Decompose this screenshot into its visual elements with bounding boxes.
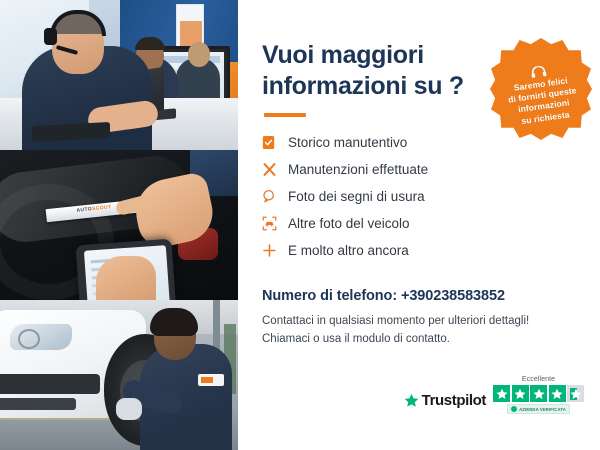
title-divider bbox=[264, 113, 306, 117]
verified-business-badge: AZIENDA VERIFICATA bbox=[507, 404, 570, 414]
clipboard-check-icon bbox=[262, 135, 288, 150]
vehicle-inspection-photo: AUTOSCOUT bbox=[0, 150, 238, 300]
photo-headset-cup bbox=[44, 28, 57, 45]
magnifier-icon bbox=[262, 189, 288, 204]
trustpilot-star-icon bbox=[404, 393, 419, 408]
photo-hand-lower bbox=[96, 256, 156, 300]
feature-label: Storico manutentivo bbox=[288, 136, 407, 150]
photo-mechanic-glove bbox=[116, 398, 142, 420]
contact-note-line-1: Contattaci in qualsiasi momento per ulte… bbox=[262, 313, 578, 331]
promo-card: AUTOSCOUT Vuoi maggio bbox=[0, 0, 600, 450]
star-filled bbox=[493, 385, 510, 402]
call-center-agent-photo bbox=[0, 0, 238, 150]
trustpilot-wordmark: Trustpilot bbox=[422, 392, 486, 409]
star-half bbox=[567, 385, 584, 402]
car-frame-icon bbox=[262, 216, 288, 231]
tools-cross-icon bbox=[262, 162, 288, 177]
trustpilot-logo: Trustpilot bbox=[404, 392, 486, 414]
photo-coworker-two-head bbox=[188, 42, 210, 67]
trustpilot-stars bbox=[493, 385, 584, 402]
feature-label: Altre foto del veicolo bbox=[288, 217, 410, 231]
photo-column: AUTOSCOUT bbox=[0, 0, 238, 450]
star-filled bbox=[549, 385, 566, 402]
headset-icon bbox=[530, 65, 547, 78]
feature-list: Storico manutentivo Manutenzioni effettu… bbox=[262, 129, 578, 264]
photo-grille-upper bbox=[0, 374, 100, 394]
star-filled bbox=[530, 385, 547, 402]
verified-label: AZIENDA VERIFICATA bbox=[519, 407, 566, 412]
feature-label: E molto altro ancora bbox=[288, 244, 409, 258]
trustpilot-widget[interactable]: Trustpilot Eccellente bbox=[404, 376, 584, 414]
phone-block: Numero di telefono: +390238583852 Contat… bbox=[262, 288, 578, 349]
feature-label: Foto dei segni di usura bbox=[288, 190, 425, 204]
promise-seal-badge: Saremo felici di fornirti queste informa… bbox=[490, 38, 592, 140]
phone-number[interactable]: Numero di telefono: +390238583852 bbox=[262, 288, 578, 304]
feature-item-altre-foto-veicolo: Altre foto del veicolo bbox=[262, 210, 578, 237]
feature-label: Manutenzioni effettuate bbox=[288, 163, 428, 177]
photo-mechanic-hair bbox=[150, 308, 198, 336]
verified-check-icon bbox=[511, 406, 517, 412]
feature-item-molto-altro: E molto altro ancora bbox=[262, 237, 578, 264]
page-title-line-1: Vuoi maggiori bbox=[262, 41, 424, 69]
photo-grille-lower bbox=[0, 398, 76, 410]
feature-item-manutenzioni-effettuate: Manutenzioni effettuate bbox=[262, 156, 578, 183]
plus-icon bbox=[262, 243, 288, 258]
contact-note: Contattaci in qualsiasi momento per ulte… bbox=[262, 313, 578, 349]
photo-headlight bbox=[10, 324, 72, 350]
contact-note-line-2: Chiamaci o usa il modulo di contatto. bbox=[262, 331, 578, 349]
mechanic-wheel-photo bbox=[0, 300, 238, 450]
star-filled bbox=[512, 385, 529, 402]
photo-uniform-badge bbox=[198, 374, 224, 386]
trustpilot-rating: Eccellente AZIE bbox=[493, 376, 584, 414]
feature-item-foto-segni-usura: Foto dei segni di usura bbox=[262, 183, 578, 210]
content-panel: Vuoi maggiori informazioni su ? Saremo f… bbox=[238, 0, 600, 450]
trustpilot-rating-label: Eccellente bbox=[522, 376, 555, 383]
